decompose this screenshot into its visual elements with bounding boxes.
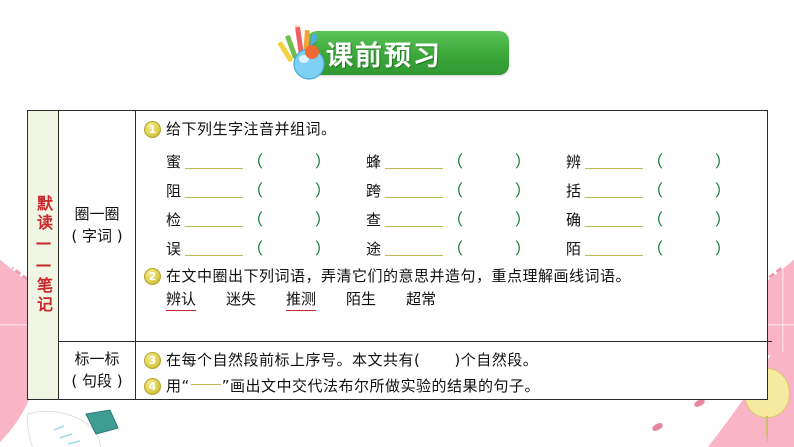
pinyin-blank[interactable] xyxy=(385,167,443,169)
word-paren-close: ） xyxy=(315,206,331,230)
item-number-badge: 2 xyxy=(144,268,161,285)
table-row: 圈一圈 ( 字词 ) 1 给下列生字注音并组词。 蜜 （） xyxy=(59,111,772,341)
character-label: 括 xyxy=(566,180,583,201)
word-paren-open: （ xyxy=(647,206,663,230)
row-label-mark: 标一标 ( 句段 ) xyxy=(59,342,136,399)
task-item-text: 在文中圈出下列词语，弄清它们的意思并造句，重点理解画线词语。 xyxy=(166,265,631,288)
word-paren-open: （ xyxy=(447,206,463,230)
word-paren-close: ） xyxy=(715,235,731,259)
word-paren-close: ） xyxy=(715,177,731,201)
character-cell: 检 （） xyxy=(166,206,366,230)
row-label-main: 标一标 xyxy=(74,349,119,371)
character-label: 误 xyxy=(166,238,183,259)
character-cell: 辨 （） xyxy=(566,148,766,172)
pinyin-blank[interactable] xyxy=(185,196,243,198)
task-item-text: 给下列生字注音并组词。 xyxy=(166,118,337,141)
row-content-circle: 1 给下列生字注音并组词。 蜜 （） 蜂 xyxy=(136,111,772,341)
word-paren-close: ） xyxy=(515,235,531,259)
character-cell: 误 （） xyxy=(166,235,366,259)
pinyin-blank[interactable] xyxy=(385,196,443,198)
word-paren-open: （ xyxy=(447,235,463,259)
row-content-mark: 3 在每个自然段前标上序号。本文共有()个自然段。 4 用“”画出文中交代法布尔… xyxy=(136,342,772,399)
word-paren-open: （ xyxy=(247,206,263,230)
character-label: 阻 xyxy=(166,180,183,201)
pencil-cup-icon xyxy=(277,25,339,81)
character-cell: 陌 （） xyxy=(566,235,766,259)
pinyin-blank[interactable] xyxy=(185,254,243,256)
character-row: 阻 （） 跨 （） 括 xyxy=(166,172,766,201)
word-paren-close: ） xyxy=(515,206,531,230)
word-paren-open: （ xyxy=(647,235,663,259)
character-exercise-grid: 蜜 （） 蜂 （） 辨 xyxy=(166,143,766,259)
task-item-2: 2 在文中圈出下列词语，弄清它们的意思并造句，重点理解画线词语。 xyxy=(144,265,766,288)
read-method-label: 默读——笔记 xyxy=(35,195,51,315)
word-paren-open: （ xyxy=(647,177,663,201)
vocabulary-word: 陌生 xyxy=(346,288,376,311)
task-text-after: )个自然段。 xyxy=(454,351,538,369)
task-text-before: 在每个自然段前标上序号。本文共有( xyxy=(166,351,420,369)
task-item-text: 在每个自然段前标上序号。本文共有()个自然段。 xyxy=(166,349,538,372)
character-label: 查 xyxy=(366,209,383,230)
task-text-before: 用“ xyxy=(166,377,190,395)
character-cell: 阻 （） xyxy=(166,177,366,201)
vocabulary-word: 超常 xyxy=(406,288,436,311)
word-paren-close: ） xyxy=(315,177,331,201)
word-paren-close: ） xyxy=(515,148,531,172)
pinyin-blank[interactable] xyxy=(185,167,243,169)
row-label-circle: 圈一圈 ( 字词 ) xyxy=(59,111,136,341)
item-number-badge: 4 xyxy=(144,378,161,395)
title-banner-group: 课前预习 xyxy=(283,31,509,75)
vocabulary-word: 迷失 xyxy=(226,288,256,311)
read-method-column: 默读——笔记 xyxy=(28,111,59,399)
table-body: 圈一圈 ( 字词 ) 1 给下列生字注音并组词。 蜜 （） xyxy=(59,111,772,399)
table-row: 标一标 ( 句段 ) 3 在每个自然段前标上序号。本文共有()个自然段。 4 用… xyxy=(59,341,772,399)
task-item-3: 3 在每个自然段前标上序号。本文共有()个自然段。 xyxy=(144,349,766,372)
underline-mark-icon xyxy=(191,383,221,385)
word-paren-close: ） xyxy=(715,206,731,230)
item-number-badge: 1 xyxy=(144,121,161,138)
word-paren-close: ） xyxy=(715,148,731,172)
worksheet-table: 默读——笔记 圈一圈 ( 字词 ) 1 给下列生字注音并组词。 xyxy=(27,110,768,400)
row-label-sub: ( 字词 ) xyxy=(71,226,122,248)
character-cell: 途 （） xyxy=(366,235,566,259)
task-text-after: ”画出文中交代法布尔所做实验的结果的句子。 xyxy=(222,377,540,395)
word-paren-open: （ xyxy=(247,235,263,259)
pinyin-blank[interactable] xyxy=(385,225,443,227)
row-label-main: 圈一圈 xyxy=(74,204,119,226)
character-row: 误 （） 途 （） 陌 xyxy=(166,230,766,259)
character-cell: 跨 （） xyxy=(366,177,566,201)
character-label: 辨 xyxy=(566,151,583,172)
word-paren-open: （ xyxy=(247,177,263,201)
pinyin-blank[interactable] xyxy=(585,254,643,256)
character-label: 确 xyxy=(566,209,583,230)
character-cell: 蜜 （） xyxy=(166,148,366,172)
character-label: 蜂 xyxy=(366,151,383,172)
slide-canvas: 课前预习 默读——笔记 圈一圈 xyxy=(0,0,794,447)
task-item-4: 4 用“”画出文中交代法布尔所做实验的结果的句子。 xyxy=(144,375,766,398)
character-row: 检 （） 查 （） 确 xyxy=(166,201,766,230)
word-paren-open: （ xyxy=(647,148,663,172)
task-item-text: 用“”画出文中交代法布尔所做实验的结果的句子。 xyxy=(166,375,540,398)
word-paren-close: ） xyxy=(315,148,331,172)
vocabulary-word: 辨认 xyxy=(166,288,196,311)
pinyin-blank[interactable] xyxy=(585,225,643,227)
character-label: 检 xyxy=(166,209,183,230)
vocabulary-word: 推测 xyxy=(286,288,316,311)
character-row: 蜜 （） 蜂 （） 辨 xyxy=(166,143,766,172)
character-cell: 确 （） xyxy=(566,206,766,230)
pinyin-blank[interactable] xyxy=(585,196,643,198)
character-label: 途 xyxy=(366,238,383,259)
vocabulary-word-list: 辨认 迷失 推测 陌生 超常 xyxy=(166,288,766,311)
character-label: 蜜 xyxy=(166,151,183,172)
character-cell: 括 （） xyxy=(566,177,766,201)
pinyin-blank[interactable] xyxy=(585,167,643,169)
pinyin-blank[interactable] xyxy=(385,254,443,256)
item-number-badge: 3 xyxy=(144,352,161,369)
word-paren-open: （ xyxy=(447,148,463,172)
character-label: 陌 xyxy=(566,238,583,259)
character-cell: 蜂 （） xyxy=(366,148,566,172)
character-cell: 查 （） xyxy=(366,206,566,230)
word-paren-close: ） xyxy=(315,235,331,259)
row-label-sub: ( 句段 ) xyxy=(71,371,122,393)
word-paren-open: （ xyxy=(247,148,263,172)
word-paren-close: ） xyxy=(515,177,531,201)
character-label: 跨 xyxy=(366,180,383,201)
word-paren-open: （ xyxy=(447,177,463,201)
pinyin-blank[interactable] xyxy=(185,225,243,227)
task-item-1: 1 给下列生字注音并组词。 xyxy=(144,118,766,141)
